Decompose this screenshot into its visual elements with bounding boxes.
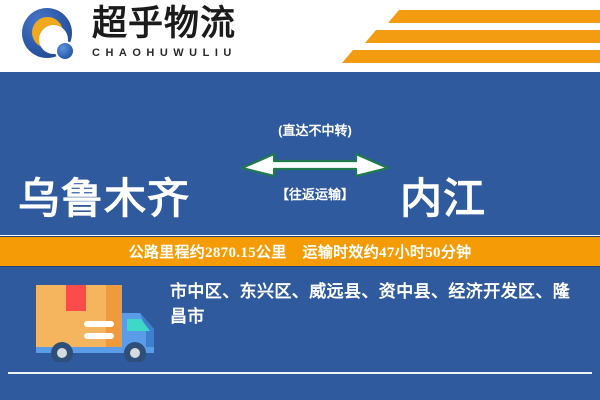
route-arrow-block: (直达不中转) 【往返运输】 <box>240 120 390 220</box>
banner-header: 超乎物流 CHAOHUWULIU <box>0 0 600 72</box>
stripe-2 <box>365 30 600 43</box>
stripe-1 <box>388 10 600 23</box>
origin-city: 乌鲁木齐 <box>18 177 190 223</box>
distance-text: 公路里程约2870.15公里 <box>129 241 287 262</box>
brand-name-en: CHAOHUWULIU <box>92 46 292 60</box>
destination-city: 内江 <box>400 177 486 223</box>
duration-text: 运输时效约47小时50分钟 <box>303 241 472 262</box>
direct-route-note: (直达不中转) <box>240 120 390 139</box>
route-panel: 乌鲁木齐 (直达不中转) 【往返运输】 内江 <box>0 72 600 235</box>
route-info-bar: 公路里程约2870.15公里 运输时效约47小时50分钟 <box>0 236 600 267</box>
brand-name-cn: 超乎物流 <box>92 4 292 44</box>
logo-dot-icon <box>55 41 75 61</box>
logistics-route-banner: 超乎物流 CHAOHUWULIU 乌鲁木齐 (直达不中转) 【往返运输】 内江 … <box>0 0 600 400</box>
bottom-divider <box>8 372 592 374</box>
double-headed-arrow-icon <box>240 146 390 180</box>
round-trip-note: 【往返运输】 <box>240 184 390 203</box>
coverage-panel: 市中区、东兴区、威远县、资中县、经济开发区、隆昌市 <box>0 267 600 400</box>
company-logo <box>22 8 80 64</box>
coverage-districts-text: 市中区、东兴区、威远县、资中县、经济开发区、隆昌市 <box>170 279 585 329</box>
brand-block: 超乎物流 CHAOHUWULIU <box>92 4 292 60</box>
stripe-3 <box>342 50 600 63</box>
header-stripes-decoration <box>340 8 600 66</box>
delivery-truck-icon <box>28 277 168 362</box>
